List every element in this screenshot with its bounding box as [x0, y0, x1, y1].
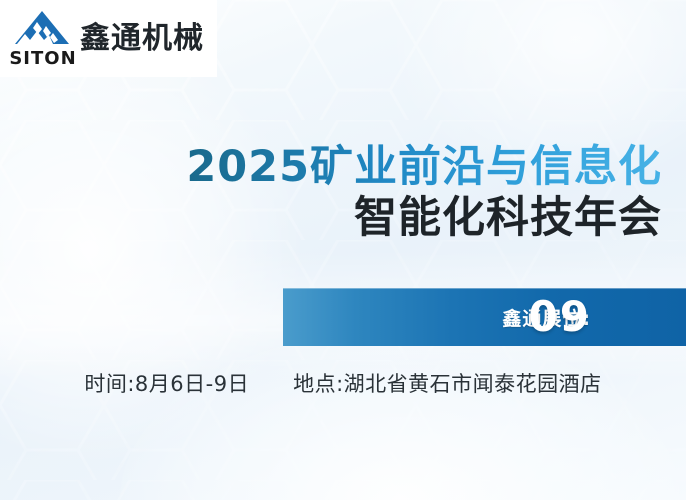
title-line-1: 2025矿业前沿与信息化 — [0, 143, 662, 191]
company-logo: SITON 鑫通机械 — [0, 0, 217, 77]
mountain-logo-icon: SITON — [12, 9, 74, 68]
booth-banner: 鑫通展位: 09 — [283, 288, 686, 346]
event-title: 2025矿业前沿与信息化 智能化科技年会 — [0, 143, 662, 244]
logo-chinese-text: 鑫通机械 — [80, 24, 204, 54]
title-line-2: 智能化科技年会 — [0, 193, 662, 244]
event-location: 地点:湖北省黄石市闻泰花园酒店 — [293, 368, 602, 398]
logo-latin-text: SITON — [9, 50, 76, 68]
booth-number: 09 — [529, 296, 591, 338]
event-time: 时间:8月6日-9日 — [84, 368, 249, 398]
event-poster: SITON 鑫通机械 2025矿业前沿与信息化 智能化科技年会 鑫通展位: 09… — [0, 0, 686, 500]
background-glow-bottom — [120, 330, 680, 500]
event-details: 时间:8月6日-9日 地点:湖北省黄石市闻泰花园酒店 — [0, 368, 686, 398]
